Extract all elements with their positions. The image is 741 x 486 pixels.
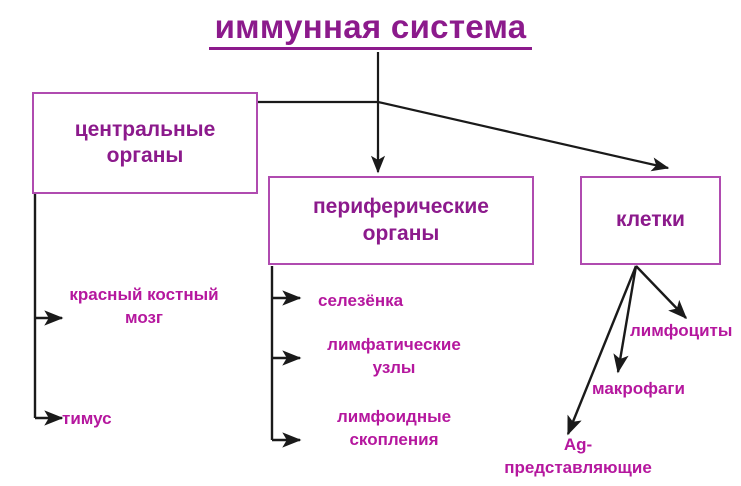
node-peripheral-organs[interactable]: периферические органы: [268, 176, 534, 265]
leaf-lymphocytes: лимфоциты: [630, 320, 741, 343]
connector-title-to-cells: [378, 102, 668, 168]
leaf-lymph-nodes: лимфатические узлы: [294, 334, 494, 380]
leaf-spleen: селезёнка: [318, 290, 468, 313]
node-central-organs-label: центральные органы: [75, 117, 216, 170]
node-cells-label: клетки: [616, 207, 685, 233]
node-cells[interactable]: клетки: [580, 176, 721, 265]
diagram-canvas: иммунная система центральные органы пери…: [0, 0, 741, 486]
leaf-red-bone-marrow: красный костный мозг: [46, 284, 242, 330]
diagram-title: иммунная система: [0, 8, 741, 46]
node-central-organs[interactable]: центральные органы: [32, 92, 258, 194]
leaf-thymus: тимус: [62, 408, 158, 431]
node-peripheral-organs-label: периферические органы: [313, 194, 489, 247]
leaf-ag-presenting: Ag- представляющие: [480, 434, 676, 480]
diagram-title-text: иммунная система: [209, 8, 533, 50]
connector-cells-fan: [568, 266, 686, 434]
leaf-macrophages: макрофаги: [592, 378, 741, 401]
leaf-lymphoid-aggregations: лимфоидные скопления: [296, 406, 492, 452]
